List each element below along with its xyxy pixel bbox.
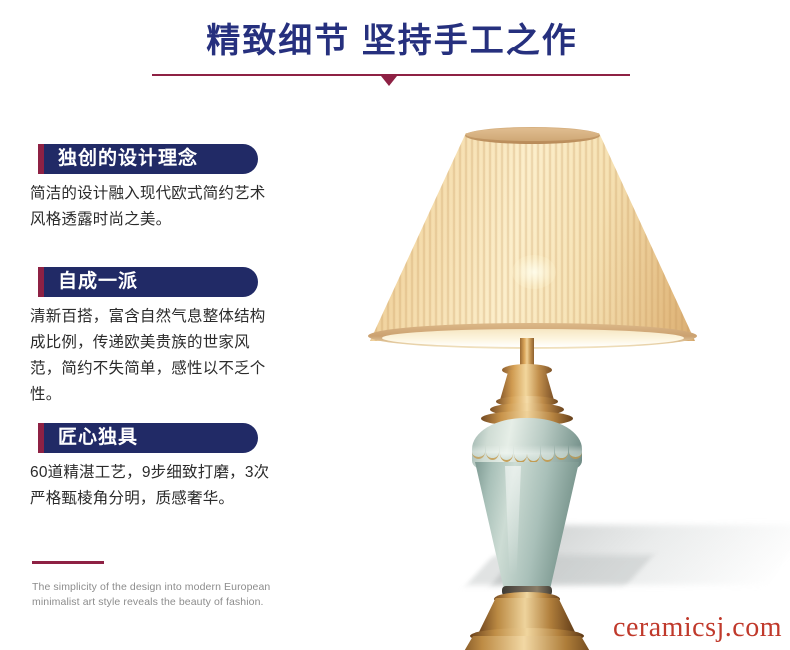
feature-body-text: 60道精湛工艺，9步细致打磨，3次严格甄棱角分明，质感奢华。 [30,460,270,512]
caption-divider-rule [32,561,104,564]
feature-heading: 匠心独具 [38,423,258,453]
ceramic-petal [486,445,499,460]
chevron-down-icon [381,76,397,86]
feature-heading: 独创的设计理念 [38,144,258,174]
feature-accent-bar [38,144,44,174]
ceramic-petal [500,445,513,462]
lamp-shade-fabric [370,133,695,341]
ceramic-petal [541,445,554,462]
feature-list: 独创的设计理念 简洁的设计融入现代欧式简约艺术风格透露时尚之美。 自成一派 清新… [0,120,320,620]
ceramic-petal [514,445,527,463]
lamp-shade [370,127,695,345]
feature-heading-label: 匠心独具 [58,423,138,453]
feature-accent-bar [38,423,44,453]
feature-item: 独创的设计理念 简洁的设计融入现代欧式简约艺术风格透露时尚之美。 [0,144,320,233]
ceramic-petal [472,445,485,459]
ceramic-petal [555,445,568,460]
lamp-base-flare [452,636,602,650]
product-photo-table-lamp [330,100,790,630]
feature-heading: 自成一派 [38,267,258,297]
feature-item: 自成一派 清新百搭，富含自然气息整体结构成比例，传递欧美贵族的世家风范，简约不失… [0,267,320,408]
lamp-drop-shadow-secondary [466,555,653,585]
feature-item: 匠心独具 60道精湛工艺，9步细致打磨，3次严格甄棱角分明，质感奢华。 [0,423,320,512]
ceramic-petal [569,445,582,459]
lamp-shade-top-opening [466,128,599,141]
ceramic-petal [527,445,540,463]
feature-accent-bar [38,267,44,297]
feature-heading-label: 独创的设计理念 [58,144,198,174]
page-title: 精致细节 坚持手工之作 [150,13,634,62]
lamp-bulb-glow [512,255,556,289]
caption-text: The simplicity of the design into modern… [32,580,307,610]
product-detail-page: 精致细节 坚持手工之作 独创的设计理念 简洁的设计融入现代欧式简约艺术风格透露时… [0,0,790,650]
feature-body-text: 简洁的设计融入现代欧式简约艺术风格透露时尚之美。 [30,181,270,233]
feature-body-text: 清新百搭，富含自然气息整体结构成比例，传递欧美贵族的世家风范，简约不失简单，感性… [30,304,270,408]
page-header: 精致细节 坚持手工之作 [0,0,790,100]
feature-heading-label: 自成一派 [58,267,138,297]
